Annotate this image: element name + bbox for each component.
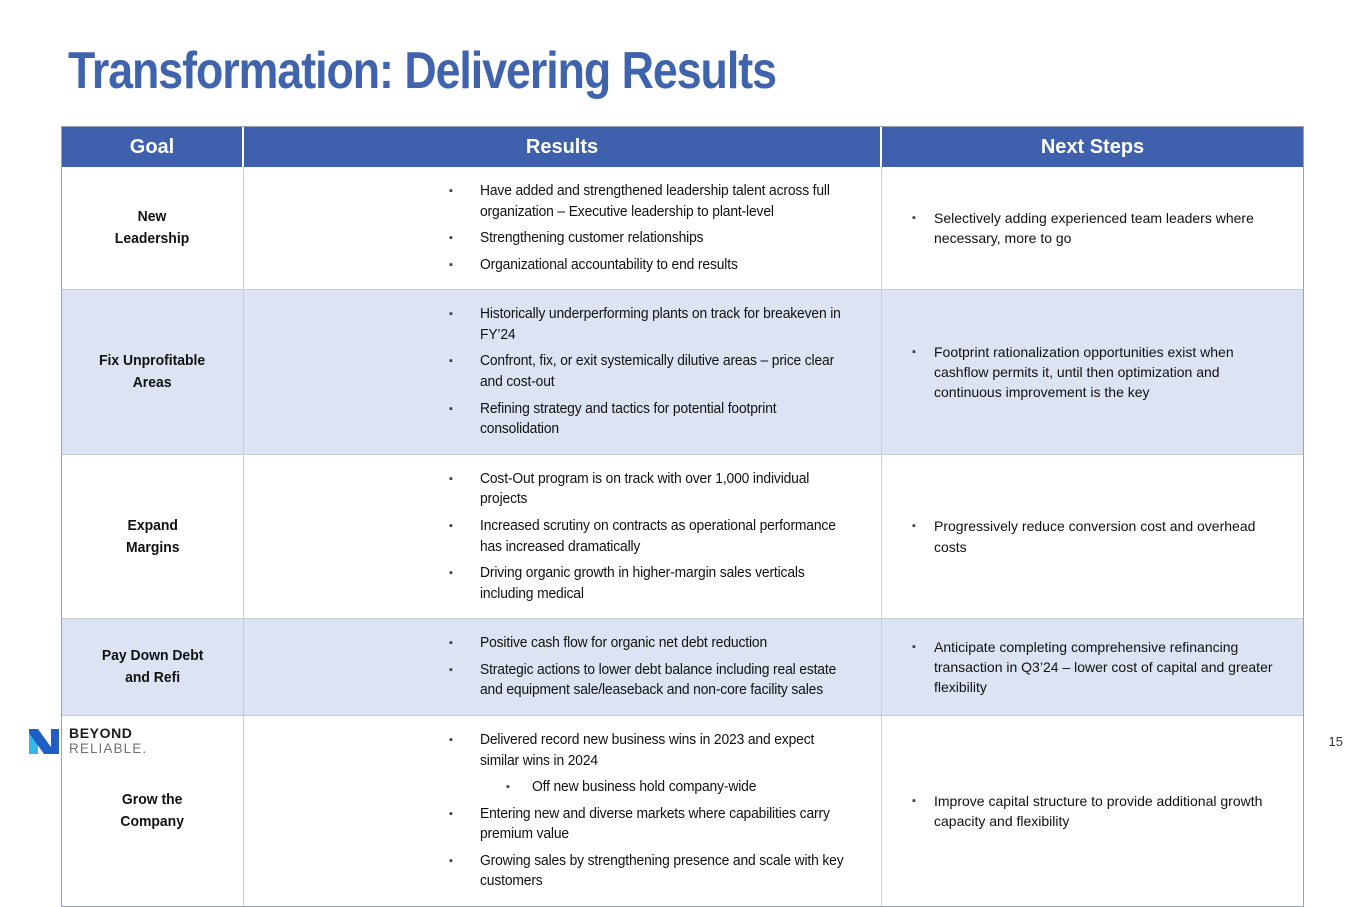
next-steps-bullet: Footprint rationalization opportunities …	[910, 342, 1281, 403]
next-steps-bullet-list: Anticipate completing comprehensive refi…	[910, 637, 1281, 698]
next-steps-bullet-list: Selectively adding experienced team lead…	[910, 208, 1281, 249]
table-row: ExpandMarginsCost-Out program is on trac…	[62, 454, 1303, 618]
table-header-row: Goal Results Next Steps	[62, 127, 1303, 167]
next-steps-cell: Progressively reduce conversion cost and…	[882, 455, 1303, 618]
bullet-text: Cost-Out program is on track with over 1…	[480, 469, 850, 510]
brand-logo: BEYOND RELIABLE.	[27, 724, 147, 758]
goal-label: NewLeadership	[115, 206, 189, 250]
results-bullet-list: Positive cash flow for organic net debt …	[244, 633, 867, 701]
table-row: Fix UnprofitableAreasHistorically underp…	[62, 289, 1303, 453]
column-header-goal: Goal	[62, 127, 244, 167]
results-cell: Historically underperforming plants on t…	[244, 290, 882, 453]
bullet-text: Increased scrutiny on contracts as opera…	[480, 516, 850, 557]
results-table: Goal Results Next Steps NewLeadershipHav…	[61, 126, 1304, 907]
bullet-text: Off new business hold company-wide	[532, 777, 756, 798]
bullet-text: Driving organic growth in higher-margin …	[480, 563, 850, 604]
goal-cell: Pay Down Debtand Refi	[62, 619, 244, 715]
bullet-text: Growing sales by strengthening presence …	[480, 851, 850, 892]
bullet-text: Organizational accountability to end res…	[480, 255, 738, 276]
results-bullet-list: Cost-Out program is on track with over 1…	[244, 469, 867, 604]
table-row: Pay Down Debtand RefiPositive cash flow …	[62, 618, 1303, 715]
goal-label: ExpandMargins	[126, 515, 179, 559]
results-bullet: Driving organic growth in higher-margin …	[244, 563, 867, 604]
results-bullet: Positive cash flow for organic net debt …	[244, 633, 867, 654]
results-bullet: Historically underperforming plants on t…	[244, 304, 867, 345]
next-steps-cell: Improve capital structure to provide add…	[882, 716, 1303, 906]
beyond-reliable-n-icon	[27, 724, 61, 758]
goal-label: Pay Down Debtand Refi	[102, 645, 204, 689]
table-row: NewLeadershipHave added and strengthened…	[62, 167, 1303, 289]
results-bullet: Delivered record new business wins in 20…	[244, 730, 867, 771]
results-bullet: Cost-Out program is on track with over 1…	[244, 469, 867, 510]
results-bullet: Strengthening customer relationships	[244, 228, 867, 249]
results-bullet: Entering new and diverse markets where c…	[244, 804, 867, 845]
logo-line-reliable: RELIABLE.	[69, 742, 147, 756]
results-bullet: Confront, fix, or exit systemically dilu…	[244, 351, 867, 392]
bullet-text: Positive cash flow for organic net debt …	[480, 633, 767, 654]
next-steps-bullet: Anticipate completing comprehensive refi…	[910, 637, 1281, 698]
page-title: Transformation: Delivering Results	[68, 45, 776, 97]
results-cell: Positive cash flow for organic net debt …	[244, 619, 882, 715]
results-cell: Delivered record new business wins in 20…	[244, 716, 882, 906]
next-steps-cell: Footprint rationalization opportunities …	[882, 290, 1303, 453]
results-bullet: Have added and strengthened leadership t…	[244, 181, 867, 222]
bullet-text: Confront, fix, or exit systemically dilu…	[480, 351, 850, 392]
bullet-text: Have added and strengthened leadership t…	[480, 181, 850, 222]
column-header-results: Results	[244, 127, 882, 167]
results-sub-bullet: Off new business hold company-wide	[244, 777, 867, 798]
bullet-text: Strengthening customer relationships	[480, 228, 703, 249]
table-body: NewLeadershipHave added and strengthened…	[62, 167, 1303, 906]
logo-line-beyond: BEYOND	[69, 726, 147, 740]
goal-cell: ExpandMargins	[62, 455, 244, 618]
next-steps-bullet-list: Progressively reduce conversion cost and…	[910, 516, 1281, 557]
results-cell: Have added and strengthened leadership t…	[244, 167, 882, 289]
next-steps-bullet-list: Improve capital structure to provide add…	[910, 791, 1281, 832]
results-bullet: Strategic actions to lower debt balance …	[244, 660, 867, 701]
goal-label: Grow theCompany	[121, 789, 185, 833]
bullet-text: Historically underperforming plants on t…	[480, 304, 850, 345]
logo-wordmark: BEYOND RELIABLE.	[69, 726, 147, 756]
next-steps-bullet: Progressively reduce conversion cost and…	[910, 516, 1281, 557]
results-bullet: Refining strategy and tactics for potent…	[244, 399, 867, 440]
bullet-text: Strategic actions to lower debt balance …	[480, 660, 850, 701]
next-steps-bullet: Improve capital structure to provide add…	[910, 791, 1281, 832]
results-bullet-list: Delivered record new business wins in 20…	[244, 730, 867, 892]
next-steps-cell: Selectively adding experienced team lead…	[882, 167, 1303, 289]
bullet-text: Entering new and diverse markets where c…	[480, 804, 850, 845]
column-header-next-steps: Next Steps	[882, 127, 1303, 167]
results-bullet-list: Have added and strengthened leadership t…	[244, 181, 867, 275]
table-row: Grow theCompanyDelivered record new busi…	[62, 715, 1303, 906]
results-cell: Cost-Out program is on track with over 1…	[244, 455, 882, 618]
page-number: 15	[1329, 734, 1343, 749]
goal-label: Fix UnprofitableAreas	[99, 350, 205, 394]
results-bullet-list: Historically underperforming plants on t…	[244, 304, 867, 439]
results-bullet: Growing sales by strengthening presence …	[244, 851, 867, 892]
results-bullet: Increased scrutiny on contracts as opera…	[244, 516, 867, 557]
next-steps-cell: Anticipate completing comprehensive refi…	[882, 619, 1303, 715]
bullet-text: Refining strategy and tactics for potent…	[480, 399, 850, 440]
next-steps-bullet-list: Footprint rationalization opportunities …	[910, 342, 1281, 403]
results-bullet: Organizational accountability to end res…	[244, 255, 867, 276]
goal-cell: Fix UnprofitableAreas	[62, 290, 244, 453]
goal-cell: NewLeadership	[62, 167, 244, 289]
bullet-text: Delivered record new business wins in 20…	[480, 730, 850, 771]
next-steps-bullet: Selectively adding experienced team lead…	[910, 208, 1281, 249]
